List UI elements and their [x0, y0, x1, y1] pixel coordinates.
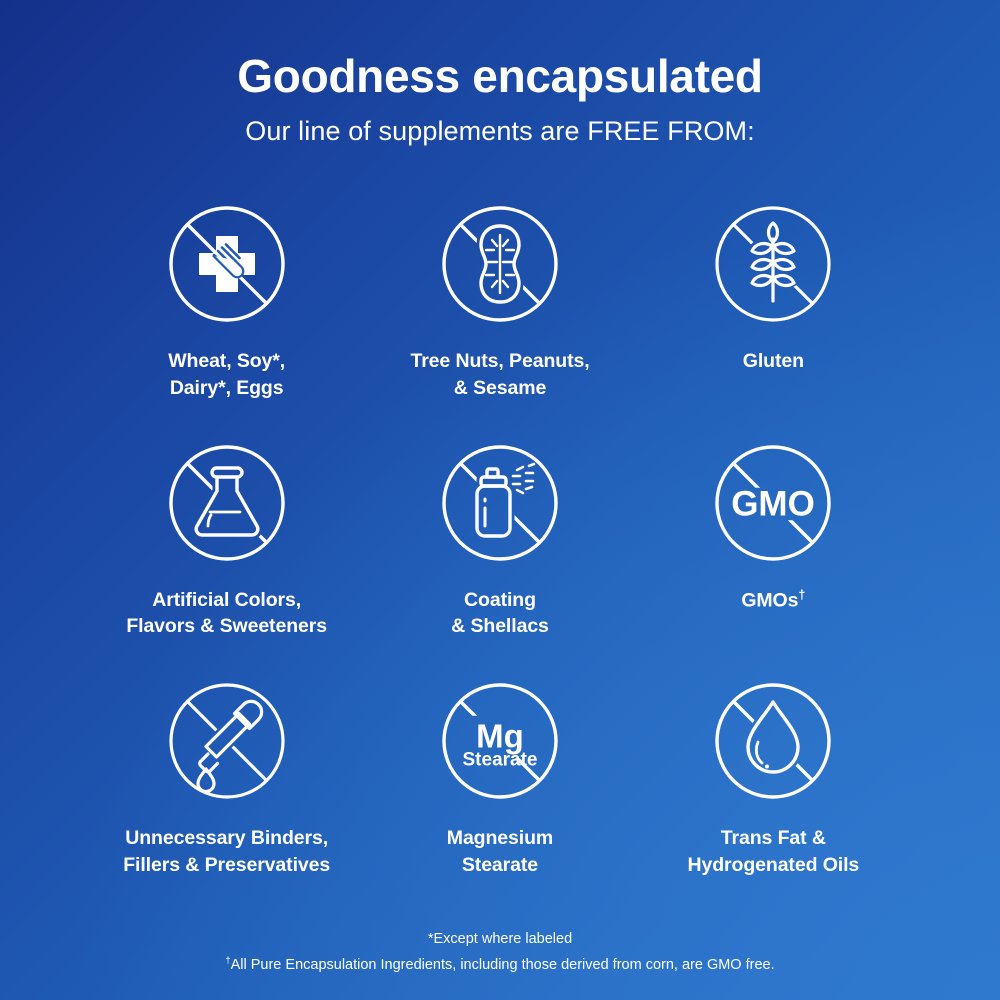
grid-item-allergens: Wheat, Soy*, Dairy*, Eggs — [90, 189, 363, 401]
no-mg-stearate-icon: Mg Stearate — [425, 666, 575, 816]
grid-item-label: Unnecessary Binders, Fillers & Preservat… — [123, 825, 330, 878]
grid-item-tree-nuts: Tree Nuts, Peanuts, & Sesame — [363, 189, 636, 401]
no-dropper-icon — [152, 666, 302, 816]
grid-item-label: Wheat, Soy*, Dairy*, Eggs — [168, 348, 285, 401]
no-wheat-stalk-icon — [698, 189, 848, 339]
page-title: Goodness encapsulated — [237, 52, 762, 100]
no-spray-can-icon — [425, 428, 575, 578]
stearate-text: Stearate — [462, 750, 537, 771]
no-fork-cross-icon — [152, 189, 302, 339]
footnote-asterisk: *Except where labeled — [0, 928, 1000, 952]
footnotes: *Except where labeled †All Pure Encapsul… — [0, 928, 1000, 978]
no-peanut-icon — [425, 189, 575, 339]
grid-item-mg-stearate: Mg Stearate Magnesium Stearate — [363, 666, 636, 878]
grid-item-label: Tree Nuts, Peanuts, & Sesame — [410, 348, 589, 401]
footnote-dagger: †All Pure Encapsulation Ingredients, inc… — [0, 952, 1000, 978]
grid-item-trans-fat: Trans Fat & Hydrogenated Oils — [637, 666, 910, 878]
gmo-text: GMO — [732, 484, 816, 523]
grid-item-label: GMOs† — [741, 587, 805, 614]
page-subtitle: Our line of supplements are FREE FROM: — [245, 116, 754, 147]
grid-item-binders: Unnecessary Binders, Fillers & Preservat… — [90, 666, 363, 878]
grid-item-label: Magnesium Stearate — [447, 825, 553, 878]
grid-item-label: Gluten — [743, 348, 804, 375]
grid-item-label: Artificial Colors, Flavors & Sweeteners — [126, 587, 327, 640]
free-from-grid: Wheat, Soy*, Dairy*, Eggs — [90, 189, 910, 878]
no-gmo-icon: GMO — [698, 428, 848, 578]
infographic-page: Goodness encapsulated Our line of supple… — [0, 0, 1000, 1000]
grid-item-label: Trans Fat & Hydrogenated Oils — [687, 825, 859, 878]
no-droplet-icon — [698, 666, 848, 816]
no-flask-icon — [152, 428, 302, 578]
grid-item-artificial-colors: Artificial Colors, Flavors & Sweeteners — [90, 428, 363, 640]
grid-item-label: Coating & Shellacs — [451, 587, 549, 640]
dagger-marker: † — [798, 588, 805, 602]
grid-item-gmo: GMO GMOs† — [637, 428, 910, 640]
grid-item-gluten: Gluten — [637, 189, 910, 401]
grid-item-coating: Coating & Shellacs — [363, 428, 636, 640]
